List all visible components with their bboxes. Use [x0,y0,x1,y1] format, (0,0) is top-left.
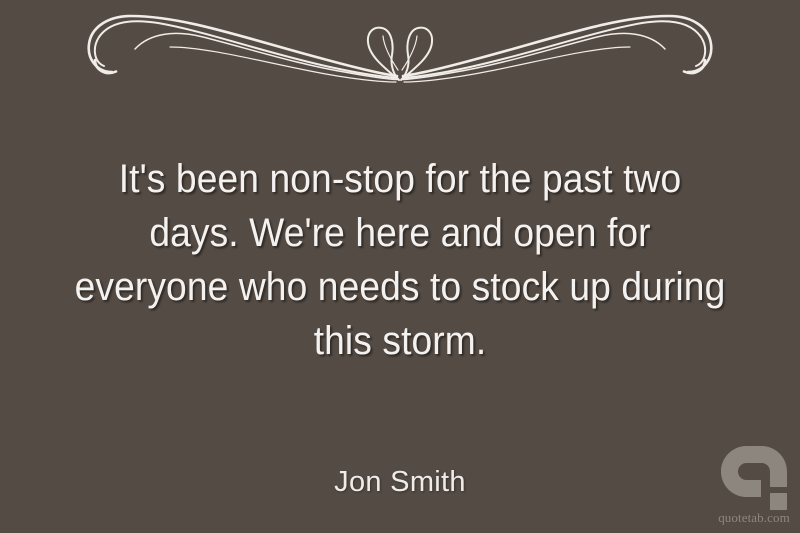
flourish-right-group [403,16,711,82]
quote-block: It's been non-stop for the past two days… [50,152,750,368]
author-name: Jon Smith [0,466,800,499]
flourish-left-group [89,16,397,82]
author-block: Jon Smith [0,466,800,499]
quotetab-q-logo-icon [721,446,787,510]
quote-image-card: It's been non-stop for the past two days… [0,0,800,533]
ornament-divider [0,0,800,96]
brand-name: quotetab.com [714,511,794,525]
flourish-center-loops [368,28,432,80]
quote-text: It's been non-stop for the past two days… [75,152,726,368]
brand-watermark[interactable]: quotetab.com [714,446,794,530]
